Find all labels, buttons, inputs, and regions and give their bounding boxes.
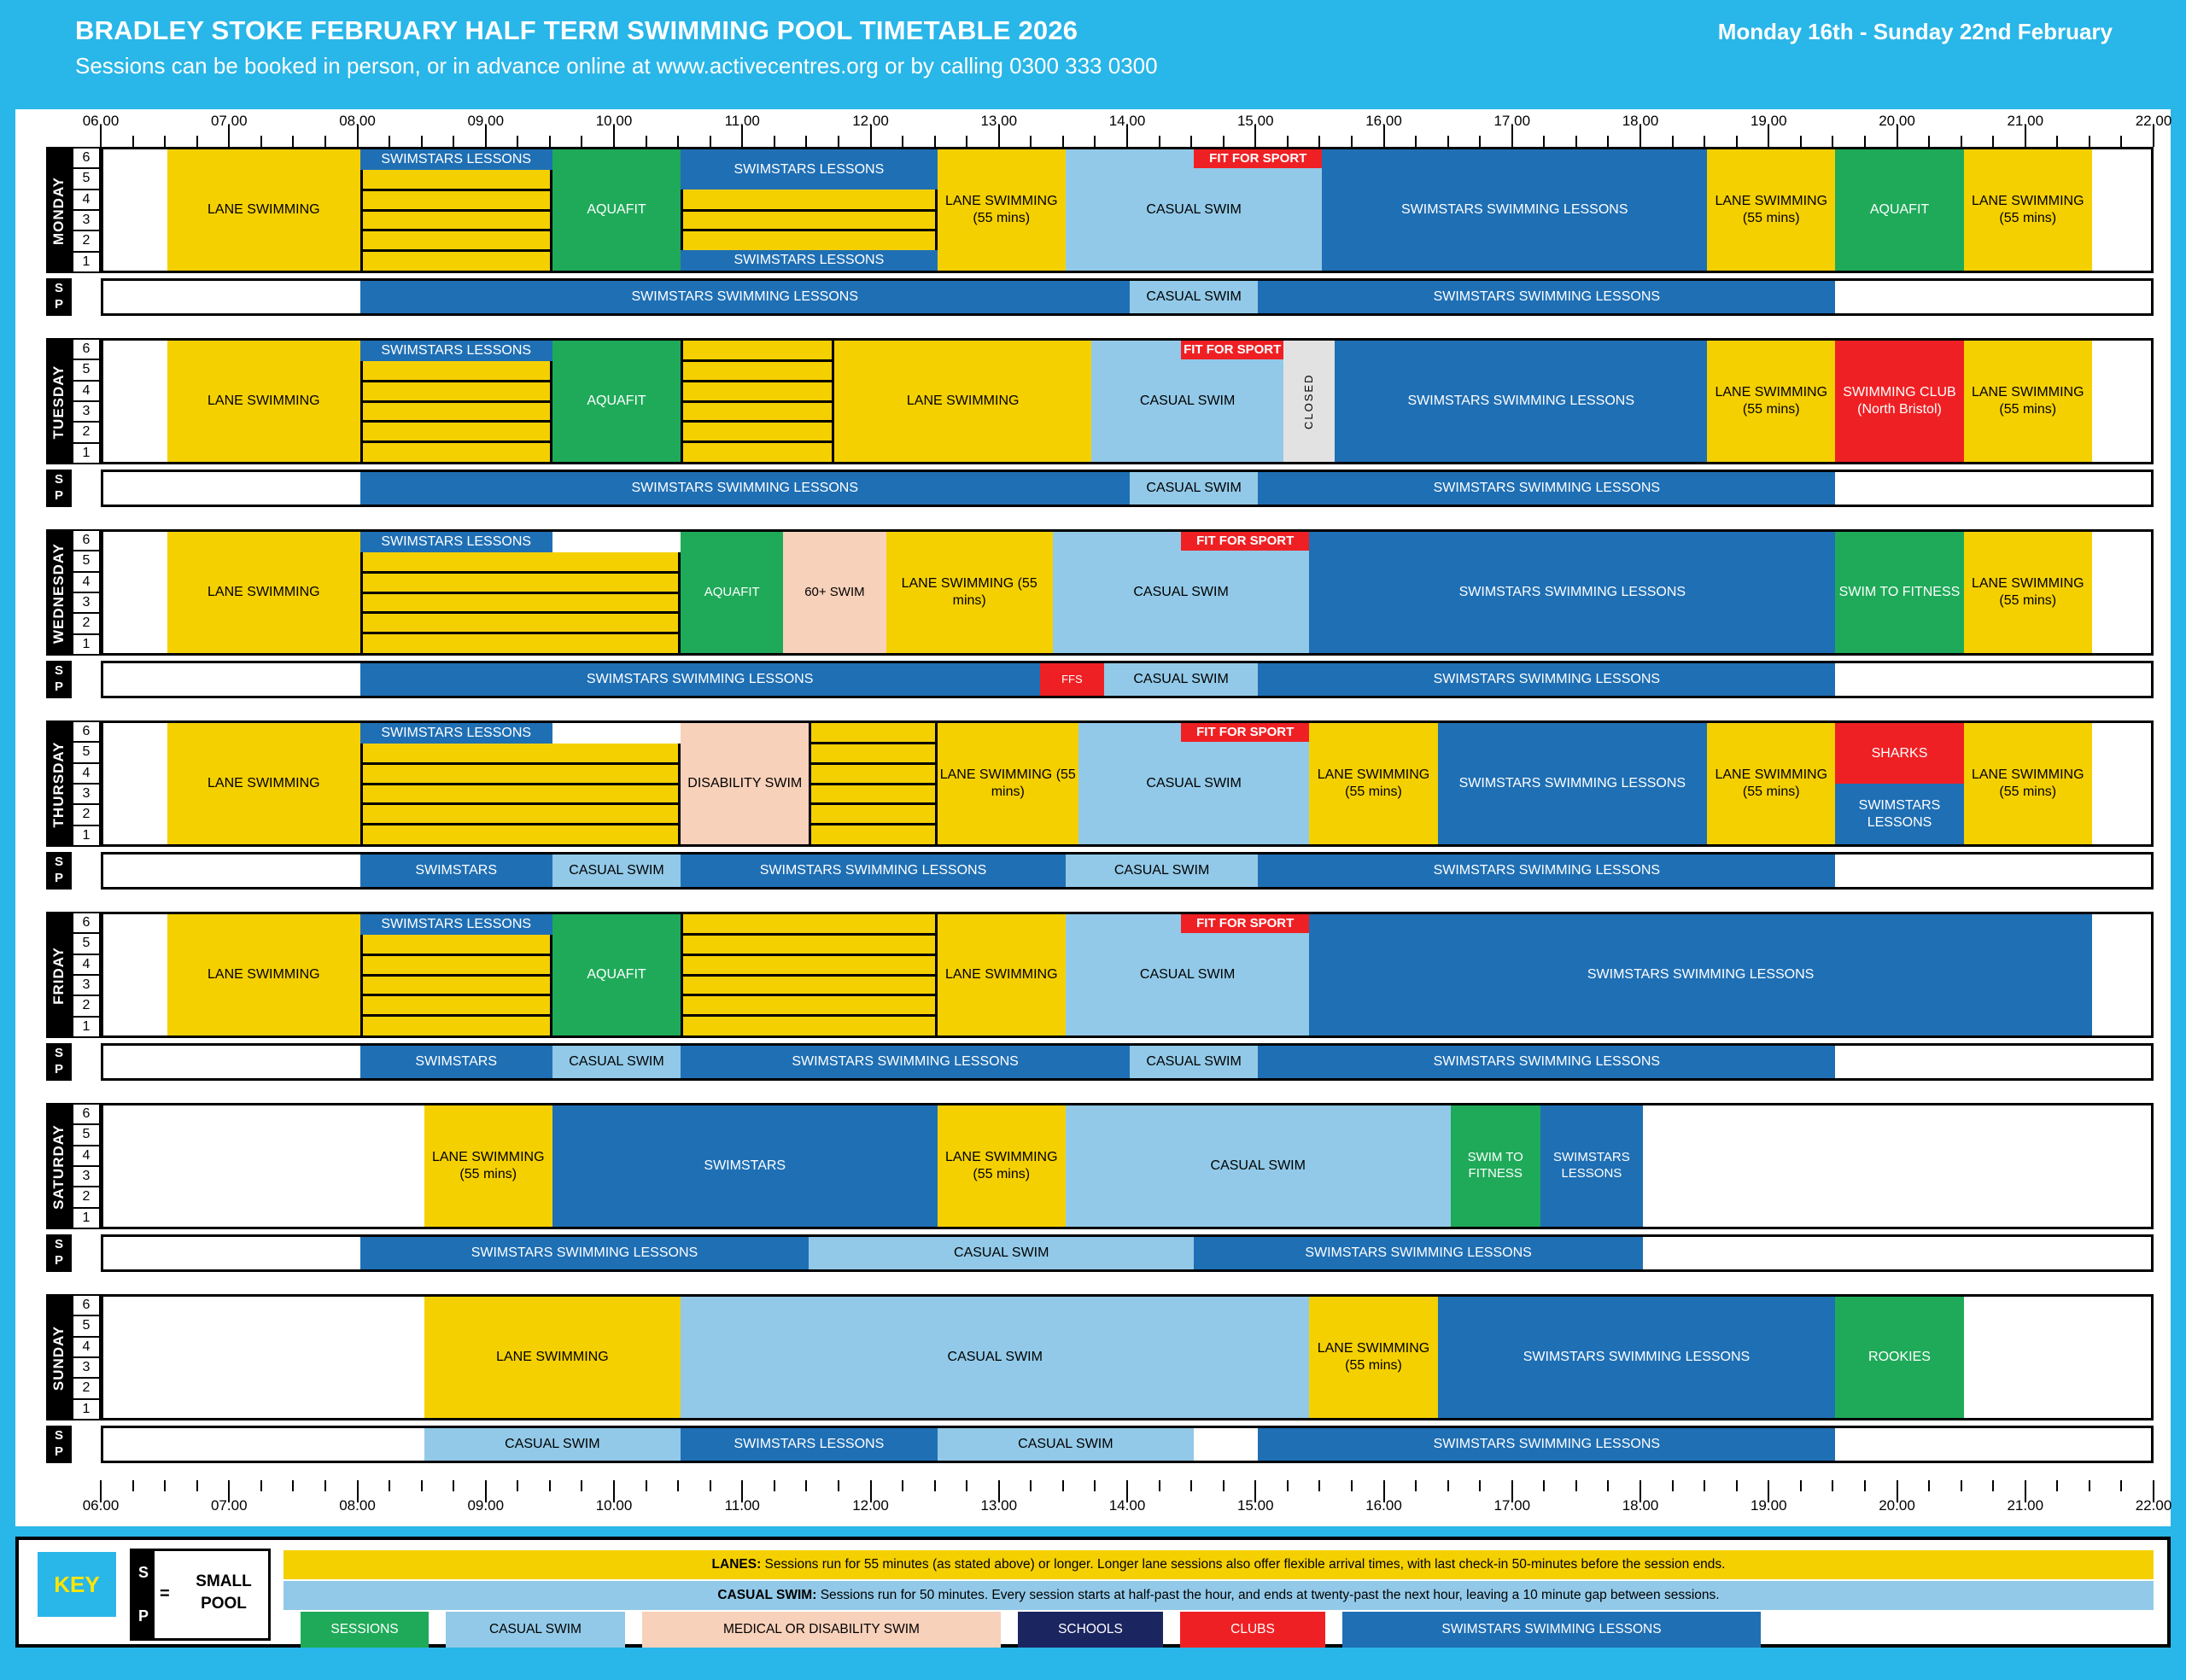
lane-block[interactable] (360, 935, 552, 1035)
session-block[interactable]: SWIMSTARS LESSONS (360, 341, 552, 361)
small-pool-letter: P (55, 871, 63, 887)
axis-tick (2153, 125, 2154, 147)
lane-number: 1 (73, 444, 99, 463)
time-axis-top: 06.0007.0008.0009.0010.0011.0012.0013.00… (15, 113, 2171, 147)
session-block[interactable]: SWIMSTARS LESSONS (1835, 784, 1963, 844)
session-block[interactable]: FIT FOR SPORT (1181, 914, 1309, 933)
axis-tick-minor (196, 136, 198, 147)
session-block[interactable]: DISABILITY SWIM (681, 723, 809, 844)
small-pool-row-saturday: SPSWIMSTARS SWIMMING LESSONSCASUAL SWIMS… (15, 1234, 2171, 1272)
axis-tick-minor (1800, 1480, 1802, 1491)
session-block[interactable]: SWIMSTARS (552, 1105, 938, 1227)
axis-tick (741, 125, 743, 147)
lane-divider (360, 632, 681, 634)
lane-number: 2 (73, 1187, 99, 1208)
axis-tick (1126, 125, 1128, 147)
session-block[interactable]: SWIMSTARS LESSONS (360, 149, 552, 170)
lane-divider (681, 994, 938, 996)
lane-number: 3 (73, 211, 99, 231)
session-block[interactable]: LANE SWIMMING (55 mins) (1309, 1297, 1437, 1418)
session-block[interactable]: CLOSED (1283, 341, 1335, 462)
session-block[interactable]: LANE SWIMMING (55 mins) (1964, 149, 2092, 271)
lane-divider (681, 229, 938, 231)
small-pool-text: SMALL POOL (177, 1571, 271, 1614)
lane-number: 3 (73, 785, 99, 805)
small-pool-letter: P (55, 1062, 63, 1078)
axis-tick (741, 1480, 743, 1502)
small-pool-session-block[interactable]: CASUAL SWIM (809, 1237, 1194, 1269)
small-pool-label: SP (46, 852, 72, 890)
lane-divider (809, 742, 937, 744)
lane-divider (360, 823, 681, 825)
small-pool-session-block[interactable]: CASUAL SWIM (552, 855, 681, 887)
axis-tick-minor (2089, 136, 2090, 147)
lane-divider (681, 400, 834, 403)
timetable-page: BRADLEY STOKE FEBRUARY HALF TERM SWIMMIN… (0, 0, 2186, 1680)
lane-divider (360, 954, 552, 956)
small-pool-session-block[interactable]: SWIMSTARS SWIMMING LESSONS (360, 281, 1131, 313)
session-block[interactable]: SWIM TO FITNESS (1835, 532, 1963, 653)
lane-number: 2 (73, 1379, 99, 1399)
lane-divider (681, 209, 938, 212)
session-block[interactable]: ROOKIES (1835, 1297, 1963, 1418)
axis-tick-minor (1928, 1480, 1930, 1491)
lane-divider (360, 229, 552, 231)
axis-tick-minor (902, 1480, 903, 1491)
axis-tick-minor (1832, 1480, 1833, 1491)
key-casual-note: CASUAL SWIM: Sessions run for 50 minutes… (283, 1581, 2154, 1610)
lane-divider (360, 400, 552, 403)
small-pool-session-block[interactable]: SWIMSTARS (360, 855, 552, 887)
session-block[interactable]: LANE SWIMMING (938, 914, 1066, 1035)
small-pool-letter: S (55, 855, 63, 871)
axis-tick-minor (1030, 136, 1032, 147)
day-name-text: FRIDAY (50, 925, 67, 1027)
axis-tick-minor (1415, 136, 1417, 147)
axis-tick-minor (838, 136, 839, 147)
session-block[interactable]: SWIMSTARS LESSONS (681, 149, 938, 190)
axis-tick-minor (196, 1480, 198, 1491)
axis-tick-minor (774, 1480, 775, 1491)
session-block[interactable]: LANE SWIMMING (167, 532, 359, 653)
lane-number: 2 (73, 231, 99, 252)
key-chip[interactable]: SCHOOLS (1018, 1612, 1163, 1648)
session-block[interactable]: LANE SWIMMING (167, 723, 359, 844)
session-block[interactable]: SWIMSTARS SWIMMING LESSONS (1335, 341, 1707, 462)
main-pool-grid: LANE SWIMMINGCASUAL SWIMLANE SWIMMING (5… (101, 1294, 2154, 1420)
session-block[interactable]: LANE SWIMMING (55 mins) (1309, 723, 1437, 844)
session-block[interactable]: AQUAFIT (1835, 149, 1963, 271)
small-pool-letter: P (55, 488, 63, 505)
lane-numbers: 654321 (72, 720, 101, 847)
small-pool-label: SP (46, 1426, 72, 1463)
axis-tick-minor (1415, 1480, 1417, 1491)
axis-tick-minor (934, 136, 936, 147)
small-pool-session-block[interactable]: CASUAL SWIM (938, 1428, 1195, 1461)
lane-number: 1 (73, 253, 99, 271)
session-block[interactable]: LANE SWIMMING (424, 1297, 681, 1418)
small-pool-letter: S (55, 472, 63, 488)
lane-number: 1 (73, 1018, 99, 1036)
session-block[interactable]: LANE SWIMMING (55 mins) (938, 723, 1078, 844)
sp-letter-s: S (138, 1564, 149, 1582)
small-pool-letters: S P (132, 1551, 155, 1638)
lane-numbers: 654321 (72, 529, 101, 656)
session-block[interactable]: CASUAL SWIM (1066, 1105, 1451, 1227)
axis-tick (613, 125, 615, 147)
day-name-label: SUNDAY (46, 1294, 72, 1420)
session-block[interactable]: LANE SWIMMING (55 mins) (938, 1105, 1066, 1227)
session-block[interactable]: FIT FOR SPORT (1194, 149, 1322, 168)
axis-tick-minor (1736, 136, 1738, 147)
axis-tick (870, 125, 872, 147)
lane-divider (360, 209, 552, 212)
lane-block[interactable] (360, 744, 681, 844)
small-pool-label: SP (46, 470, 72, 507)
axis-tick-minor (1223, 136, 1225, 147)
session-block[interactable]: LANE SWIMMING (55 mins) (1964, 341, 2092, 462)
day-name-label: WEDNESDAY (46, 529, 72, 656)
axis-tick (613, 1480, 615, 1502)
session-block[interactable]: SWIMSTARS SWIMMING LESSONS (1309, 914, 2092, 1035)
session-block[interactable]: LANE SWIMMING (167, 149, 359, 271)
session-block[interactable]: SWIMMING CLUB (North Bristol) (1835, 341, 1963, 462)
lane-number: 1 (73, 635, 99, 654)
axis-tick (1768, 125, 1769, 147)
axis-tick-minor (292, 136, 294, 147)
small-pool-session-block[interactable]: CASUAL SWIM (1104, 663, 1258, 696)
main-pool-grid: LANE SWIMMINGSWIMSTARS LESSONSAQUAFITSWI… (101, 147, 2154, 273)
main-pool-grid: LANE SWIMMINGSWIMSTARS LESSONSDISABILITY… (101, 720, 2154, 847)
axis-tick (357, 1480, 359, 1502)
day-row-sunday: SUNDAY654321LANE SWIMMINGCASUAL SWIMLANE… (15, 1294, 2171, 1420)
page-title: BRADLEY STOKE FEBRUARY HALF TERM SWIMMIN… (75, 15, 1078, 46)
key-legend: KEY S P = SMALL POOL LANES: Sessions run… (15, 1537, 2171, 1648)
axis-tick (485, 125, 487, 147)
small-pool-grid: CASUAL SWIMSWIMSTARS LESSONSCASUAL SWIMS… (101, 1426, 2154, 1463)
lane-divider (360, 571, 681, 574)
equals-sign: = (160, 1584, 170, 1604)
axis-tick-minor (646, 1480, 647, 1491)
lane-number: 2 (73, 614, 99, 634)
key-chip[interactable]: CLUBS (1180, 1612, 1325, 1648)
axis-tick (870, 1480, 872, 1502)
lane-edge (809, 723, 811, 844)
lane-number: 4 (73, 1146, 99, 1167)
axis-tick-minor (1961, 136, 1962, 147)
axis-tick-minor (1575, 1480, 1577, 1491)
session-block[interactable]: AQUAFIT (552, 914, 681, 1035)
axis-tick-minor (1479, 136, 1481, 147)
axis-tick (1126, 1480, 1128, 1502)
axis-tick-minor (1447, 136, 1449, 147)
session-block[interactable]: LANE SWIMMING (55 mins) (1707, 723, 1835, 844)
lane-number: 6 (73, 913, 99, 934)
lane-number: 4 (73, 190, 99, 211)
axis-tick-minor (1287, 1480, 1289, 1491)
small-pool-grid: SWIMSTARSCASUAL SWIMSWIMSTARS SWIMMING L… (101, 852, 2154, 890)
session-block[interactable]: FIT FOR SPORT (1181, 341, 1283, 359)
timetable-panel: 06.0007.0008.0009.0010.0011.0012.0013.00… (15, 109, 2171, 1526)
lane-number: 2 (73, 996, 99, 1017)
lane-numbers: 654321 (72, 147, 101, 273)
axis-tick-minor (164, 136, 166, 147)
axis-tick-minor (260, 1480, 262, 1491)
small-pool-letter: S (55, 1237, 63, 1253)
axis-tick-minor (1928, 136, 1930, 147)
key-lanes-bold: LANES: (712, 1557, 762, 1572)
axis-tick-minor (1672, 1480, 1674, 1491)
small-pool-session-block[interactable]: SWIMSTARS SWIMMING LESSONS (1258, 1428, 1835, 1461)
lane-block[interactable] (360, 170, 552, 271)
session-block[interactable]: SWIMSTARS LESSONS (360, 914, 552, 935)
day-name-label: MONDAY (46, 147, 72, 273)
axis-tick-minor (292, 1480, 294, 1491)
booking-info: Sessions can be booked in person, or in … (75, 53, 1158, 79)
small-pool-session-block[interactable]: CASUAL SWIM (1130, 472, 1258, 505)
key-chip[interactable]: SESSIONS (301, 1612, 429, 1648)
small-pool-session-block[interactable]: SWIMSTARS LESSONS (681, 1428, 938, 1461)
axis-tick-minor (1575, 136, 1577, 147)
lane-number: 6 (73, 1296, 99, 1316)
axis-tick-minor (1736, 1480, 1738, 1491)
day-name-label: THURSDAY (46, 720, 72, 847)
lane-divider (360, 994, 552, 996)
axis-tick (1897, 1480, 1898, 1502)
axis-tick (1254, 1480, 1256, 1502)
small-pool-session-block[interactable]: CASUAL SWIM (424, 1428, 681, 1461)
axis-tick-minor (517, 1480, 518, 1491)
axis-tick-minor (132, 1480, 134, 1491)
session-block[interactable]: LANE SWIMMING (55 mins) (1707, 149, 1835, 271)
axis-tick-minor (805, 136, 807, 147)
lane-number: 6 (73, 722, 99, 743)
session-block[interactable]: AQUAFIT (552, 149, 681, 271)
axis-tick-minor (1800, 136, 1802, 147)
day-row-tuesday: TUESDAY654321LANE SWIMMINGSWIMSTARS LESS… (15, 338, 2171, 464)
axis-tick-minor (1318, 1480, 1320, 1491)
small-pool-session-block[interactable]: FFS (1040, 663, 1104, 696)
lane-number: 4 (73, 382, 99, 402)
lane-divider (681, 974, 938, 977)
lane-divider (360, 420, 552, 423)
page-header: BRADLEY STOKE FEBRUARY HALF TERM SWIMMIN… (0, 0, 2186, 102)
axis-tick-minor (1094, 136, 1096, 147)
session-block[interactable]: SWIMSTARS SWIMMING LESSONS (1322, 149, 1707, 271)
lane-block[interactable] (681, 190, 938, 250)
axis-tick-minor (646, 136, 647, 147)
lane-divider (681, 380, 834, 382)
small-pool-session-block[interactable]: SWIMSTARS (360, 1046, 552, 1078)
axis-tick-minor (2089, 1480, 2090, 1491)
session-block[interactable]: SWIMSTARS LESSONS (1540, 1105, 1643, 1227)
session-block[interactable]: SWIMSTARS LESSONS (360, 723, 552, 744)
small-pool-letter: S (55, 281, 63, 297)
session-block[interactable]: SWIMSTARS SWIMMING LESSONS (1438, 723, 1708, 844)
lane-divider (360, 189, 552, 191)
session-block[interactable]: LANE SWIMMING (834, 341, 1091, 462)
session-block[interactable]: LANE SWIMMING (167, 341, 359, 462)
axis-tick-minor (710, 136, 711, 147)
axis-tick (100, 125, 102, 147)
lane-divider (681, 954, 938, 956)
small-pool-session-block[interactable]: SWIMSTARS SWIMMING LESSONS (1258, 472, 1835, 505)
lane-number: 4 (73, 955, 99, 976)
small-pool-letter: P (55, 297, 63, 313)
lane-edge (360, 935, 363, 1035)
main-pool-grid: LANE SWIMMINGSWIMSTARS LESSONSAQUAFIT60+… (101, 529, 2154, 656)
small-pool-label: SP (46, 278, 72, 316)
small-pool-session-block[interactable]: CASUAL SWIM (552, 1046, 681, 1078)
lane-number: 6 (73, 340, 99, 360)
axis-tick-minor (164, 1480, 166, 1491)
session-block[interactable]: LANE SWIMMING (55 mins) (1964, 723, 2092, 844)
lane-edge (360, 170, 363, 271)
axis-tick-minor (1062, 136, 1064, 147)
lane-edge (681, 341, 683, 462)
small-pool-session-block[interactable]: SWIMSTARS SWIMMING LESSONS (1194, 1237, 1643, 1269)
lane-divider (809, 762, 937, 765)
lane-block[interactable] (360, 361, 552, 462)
session-block[interactable]: SWIMSTARS LESSONS (681, 250, 938, 271)
small-pool-session-block[interactable]: SWIMSTARS SWIMMING LESSONS (1258, 281, 1835, 313)
session-block[interactable]: LANE SWIMMING (55 mins) (1707, 341, 1835, 462)
axis-tick-minor (1159, 1480, 1160, 1491)
small-pool-session-block[interactable]: CASUAL SWIM (1066, 855, 1258, 887)
day-row-friday: FRIDAY654321LANE SWIMMINGSWIMSTARS LESSO… (15, 912, 2171, 1038)
axis-tick (228, 125, 230, 147)
lane-edge (681, 914, 683, 1035)
axis-tick-minor (677, 1480, 679, 1491)
small-pool-letter: S (55, 1046, 63, 1062)
session-block[interactable]: AQUAFIT (681, 532, 783, 653)
lane-number: 4 (73, 573, 99, 593)
axis-tick-minor (934, 1480, 936, 1491)
key-chip[interactable]: SWIMSTARS SWIMMING LESSONS (1342, 1612, 1761, 1648)
small-pool-row-friday: SPSWIMSTARSCASUAL SWIMSWIMSTARS SWIMMING… (15, 1043, 2171, 1081)
day-name-text: TUESDAY (50, 351, 67, 453)
axis-tick-minor (1704, 1480, 1705, 1491)
key-chip[interactable]: CASUAL SWIM (446, 1612, 625, 1648)
lane-number: 3 (73, 1358, 99, 1379)
axis-tick-minor (805, 1480, 807, 1491)
session-block[interactable]: LANE SWIMMING (55 mins) (886, 532, 1053, 653)
axis-tick-minor (324, 136, 326, 147)
session-block[interactable]: SWIMSTARS SWIMMING LESSONS (1309, 532, 1835, 653)
axis-tick (998, 1480, 1000, 1502)
session-block[interactable]: LANE SWIMMING (167, 914, 359, 1035)
axis-tick-minor (1351, 1480, 1353, 1491)
day-name-text: SUNDAY (50, 1307, 67, 1409)
axis-tick-minor (1992, 1480, 1994, 1491)
small-pool-session-block[interactable]: SWIMSTARS SWIMMING LESSONS (360, 472, 1131, 505)
lane-divider (360, 611, 681, 614)
day-row-monday: MONDAY654321LANE SWIMMINGSWIMSTARS LESSO… (15, 147, 2171, 273)
lane-number: 5 (73, 360, 99, 381)
session-block[interactable]: AQUAFIT (552, 341, 681, 462)
day-row-thursday: THURSDAY654321LANE SWIMMINGSWIMSTARS LES… (15, 720, 2171, 847)
axis-tick (1768, 1480, 1769, 1502)
axis-tick-minor (1223, 1480, 1225, 1491)
key-title: KEY (38, 1552, 116, 1617)
small-pool-session-block[interactable]: SWIMSTARS SWIMMING LESSONS (1258, 663, 1835, 696)
axis-tick-minor (1704, 136, 1705, 147)
small-pool-session-block[interactable]: SWIMSTARS SWIMMING LESSONS (681, 855, 1066, 887)
sp-letter-p: P (138, 1607, 149, 1625)
axis-tick-minor (1351, 136, 1353, 147)
axis-tick-minor (453, 136, 454, 147)
key-chip[interactable]: MEDICAL OR DISABILITY SWIM (642, 1612, 1001, 1648)
axis-tick-minor (1543, 136, 1545, 147)
small-pool-session-block[interactable]: CASUAL SWIM (1130, 281, 1258, 313)
axis-tick-minor (677, 136, 679, 147)
lane-number: 1 (73, 1209, 99, 1228)
axis-tick (1383, 1480, 1385, 1502)
axis-tick (1897, 125, 1898, 147)
lane-number: 4 (73, 764, 99, 785)
session-block[interactable]: SWIMSTARS SWIMMING LESSONS (1438, 1297, 1836, 1418)
session-block[interactable]: 60+ SWIM (783, 532, 886, 653)
lane-block[interactable] (360, 552, 681, 653)
axis-tick-minor (549, 1480, 551, 1491)
session-block[interactable]: FIT FOR SPORT (1181, 723, 1309, 742)
session-block[interactable]: SWIMSTARS LESSONS (360, 532, 552, 552)
small-pool-session-block[interactable]: SWIMSTARS SWIMMING LESSONS (1258, 1046, 1835, 1078)
small-pool-letter: P (55, 1253, 63, 1269)
axis-tick-minor (838, 1480, 839, 1491)
lane-edge (360, 744, 363, 844)
session-block[interactable]: SWIM TO FITNESS (1451, 1105, 1540, 1227)
lane-divider (681, 359, 834, 362)
axis-tick (485, 1480, 487, 1502)
small-pool-session-block[interactable]: SWIMSTARS SWIMMING LESSONS (681, 1046, 1130, 1078)
small-pool-label: SP (46, 1234, 72, 1272)
axis-tick-minor (549, 136, 551, 147)
axis-tick (100, 1480, 102, 1502)
small-pool-session-block[interactable]: CASUAL SWIM (1130, 1046, 1258, 1078)
lane-divider (360, 440, 552, 443)
axis-tick-minor (1030, 1480, 1032, 1491)
session-block[interactable]: LANE SWIMMING (55 mins) (938, 149, 1066, 271)
lane-divider (360, 762, 681, 765)
lane-divider (360, 974, 552, 977)
small-pool-session-block[interactable]: SWIMSTARS SWIMMING LESSONS (360, 1237, 810, 1269)
small-pool-session-block[interactable]: SWIMSTARS SWIMMING LESSONS (1258, 855, 1835, 887)
time-axis-bottom: 06.0007.0008.0009.0010.0011.0012.0013.00… (15, 1480, 2171, 1514)
small-pool-grid: SWIMSTARS SWIMMING LESSONSCASUAL SWIMSWI… (101, 470, 2154, 507)
session-block[interactable]: SHARKS (1835, 723, 1963, 784)
axis-tick (2025, 125, 2026, 147)
lane-number: 3 (73, 976, 99, 996)
small-pool-session-block[interactable]: SWIMSTARS SWIMMING LESSONS (360, 663, 1040, 696)
small-pool-key: S P = SMALL POOL (130, 1549, 271, 1641)
day-name-text: WEDNESDAY (50, 542, 67, 645)
axis-tick-minor (1992, 136, 1994, 147)
lane-number: 3 (73, 1167, 99, 1187)
session-block[interactable]: CASUAL SWIM (681, 1297, 1309, 1418)
session-block[interactable]: LANE SWIMMING (55 mins) (424, 1105, 552, 1227)
session-block[interactable]: LANE SWIMMING (55 mins) (1964, 532, 2092, 653)
axis-tick (1254, 125, 1256, 147)
axis-tick-minor (260, 136, 262, 147)
lane-divider (360, 592, 681, 594)
lane-number: 3 (73, 593, 99, 614)
session-block[interactable]: FIT FOR SPORT (1181, 532, 1309, 551)
lane-divider (360, 1014, 552, 1017)
axis-tick (2153, 1480, 2154, 1502)
axis-tick-minor (1607, 136, 1609, 147)
small-pool-row-wednesday: SPSWIMSTARS SWIMMING LESSONSFFSCASUAL SW… (15, 661, 2171, 698)
